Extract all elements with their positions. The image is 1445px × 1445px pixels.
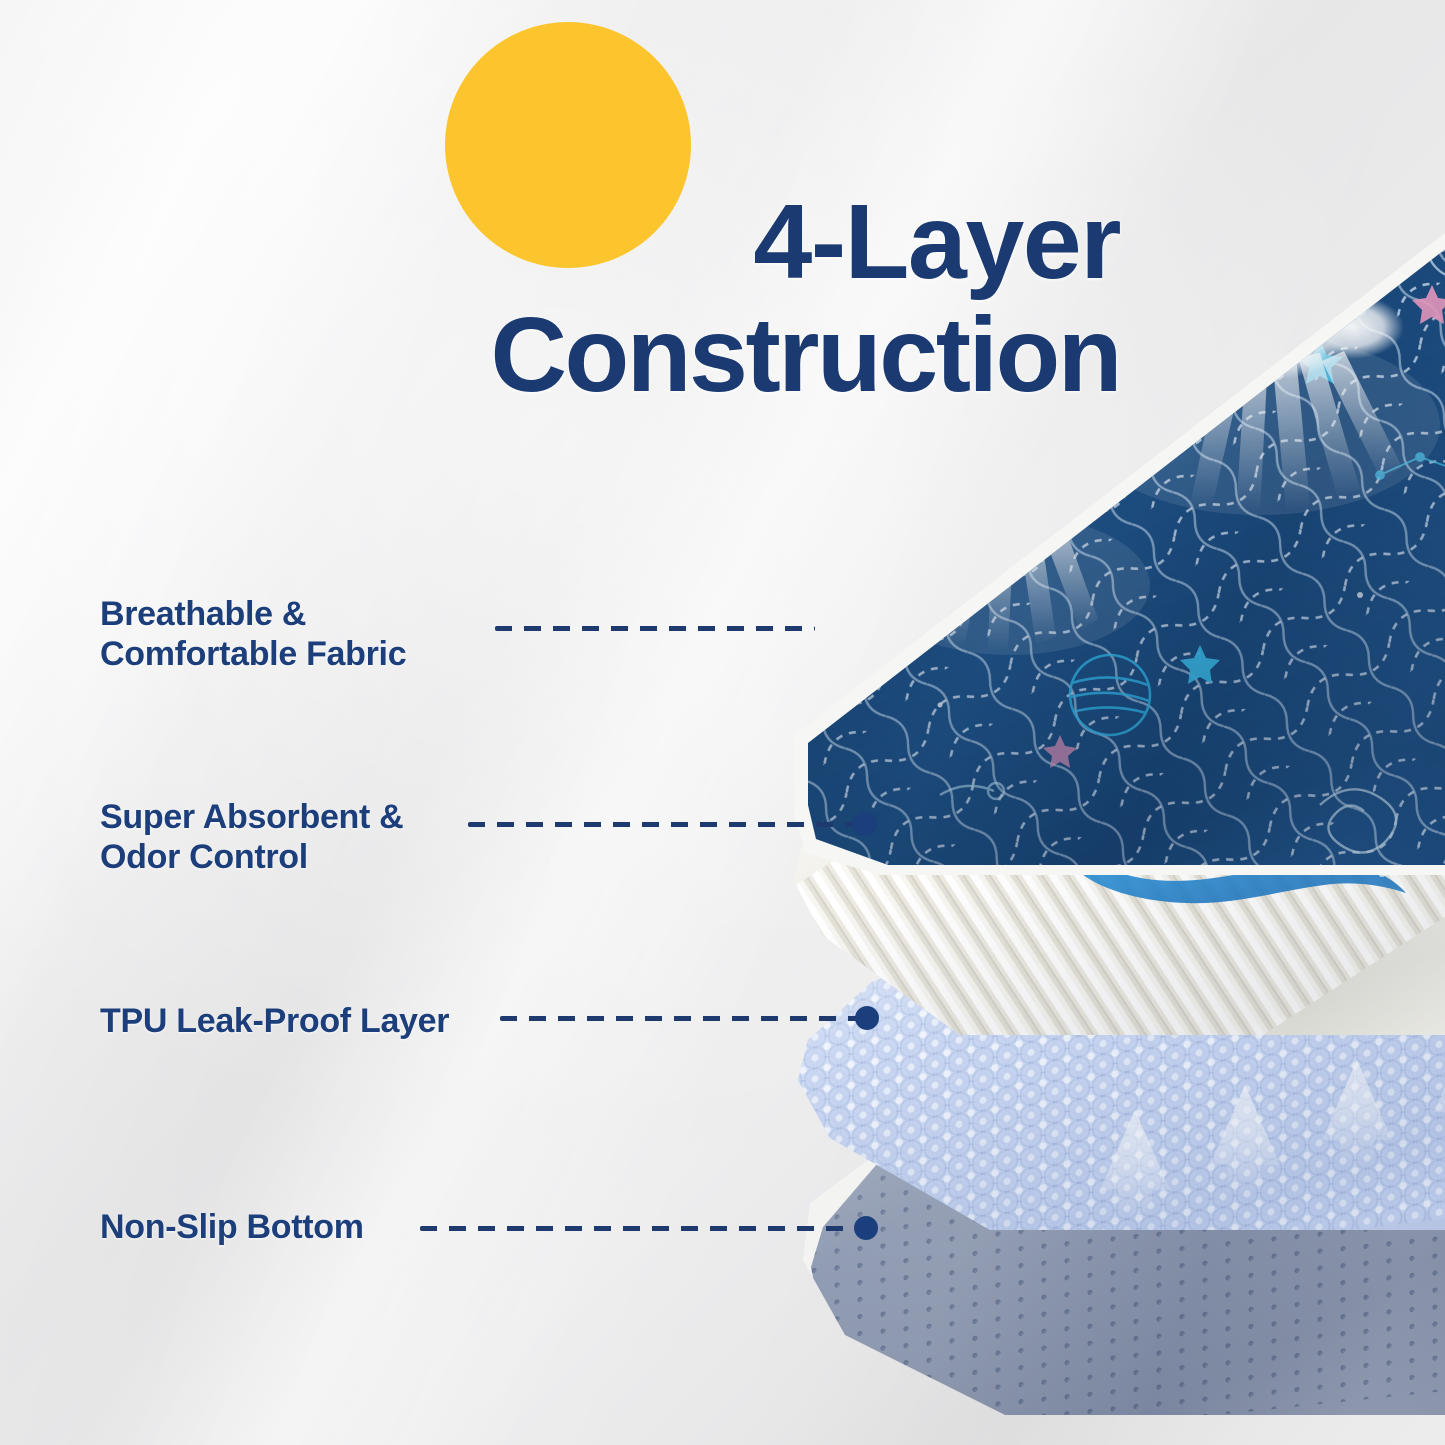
leader-line-tpu [500,1016,858,1021]
layer-label-non-slip-bottom: Non-Slip Bottom [100,1208,364,1248]
leader-line-fabric [495,626,815,631]
infographic-canvas: 4-Layer Construction Breathable & Comfor… [0,0,1445,1445]
leader-dot-absorbent [853,812,877,836]
layer-label-super-absorbent: Super Absorbent & Odor Control [100,798,403,878]
page-title: 4-Layer Construction [0,74,1120,523]
leader-line-absorbent [468,822,858,827]
leader-dot-tpu [855,1006,879,1030]
page-title-line1: 4-Layer [753,183,1120,301]
layer-label-breathable-fabric: Breathable & Comfortable Fabric [100,595,406,675]
page-title-line2: Construction [0,299,1120,411]
layer-label-tpu-leak-proof: TPU Leak-Proof Layer [100,1002,449,1042]
leader-line-non-slip [420,1226,858,1231]
leader-dot-non-slip [854,1216,878,1240]
